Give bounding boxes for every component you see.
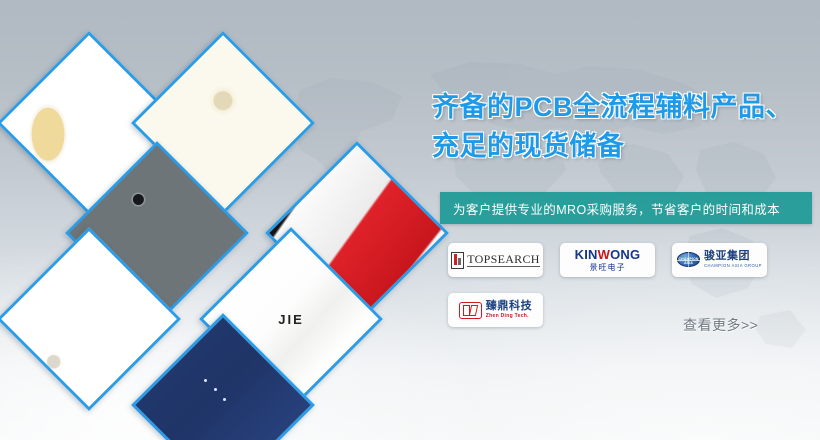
banner-subtitle-bar: 为客户提供专业的MRO采购服务，节省客户的时间和成本	[440, 192, 812, 224]
view-more-link[interactable]: 查看更多>>	[683, 315, 758, 335]
logo-chip-zhen-ding[interactable]: 臻鼎科技 Zhen Ding Tech.	[448, 293, 543, 327]
kinwong-cn-name: 景旺电子	[575, 264, 641, 272]
headline-line-1: 齐备的PCB全流程辅料产品、	[432, 92, 793, 122]
logo-chip-topsearch[interactable]: TOPSEARCH	[448, 243, 543, 277]
kinwong-en-right: ONG	[610, 247, 640, 262]
champion-asia-cn-name: 骏亚集团	[704, 251, 762, 262]
kinwong-wordmark: KINWONG	[575, 248, 641, 261]
zhen-ding-cn-name: 臻鼎科技	[486, 301, 532, 312]
banner-headline: 齐备的PCB全流程辅料产品、 充足的现货储备	[432, 88, 820, 166]
zhen-ding-mark-icon	[459, 302, 482, 319]
champion-asia-globe-text: CHAMPION ASIA	[677, 257, 700, 265]
promo-banner: JIE 齐备的PCB全流程辅料产品、 充足的现货储备 为客户提供专业的MRO采购…	[0, 0, 820, 440]
logo-chip-champion-asia[interactable]: CHAMPION ASIA 骏亚集团 CHAMPION ASIA GROUP	[672, 243, 767, 277]
banner-subtitle-text: 为客户提供专业的MRO采购服务，节省客户的时间和成本	[440, 199, 780, 218]
champion-asia-en-name: CHAMPION ASIA GROUP	[704, 264, 762, 268]
topsearch-wordmark: TOPSEARCH	[467, 253, 540, 267]
logo-chip-kinwong[interactable]: KINWONG 景旺电子	[560, 243, 655, 277]
zhen-ding-en-name: Zhen Ding Tech.	[486, 314, 532, 319]
champion-asia-globe-icon: CHAMPION ASIA	[677, 252, 700, 267]
headline-line-2: 充足的现货储备	[432, 127, 820, 166]
topsearch-mark-icon	[451, 252, 464, 269]
kinwong-en-left: KIN	[575, 247, 598, 262]
kinwong-en-mid: W	[598, 247, 610, 262]
product-collage: JIE	[0, 0, 430, 440]
